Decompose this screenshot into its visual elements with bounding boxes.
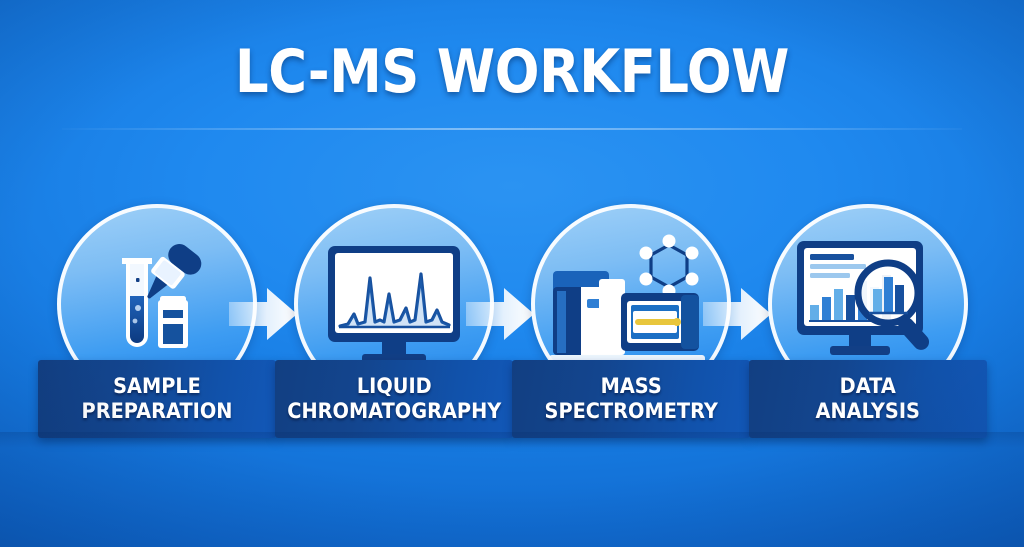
arrow-right-icon-3: [703, 288, 771, 340]
title-area: LC-MS WORKFLOW: [0, 40, 1024, 104]
page-title: LC-MS WORKFLOW: [61, 40, 962, 104]
step-label-box-3[interactable]: MASS SPECTROMETRY: [512, 360, 750, 438]
arrow-right-icon-1: [229, 288, 297, 340]
step-label-1: SAMPLE PREPARATION: [82, 374, 233, 424]
arrow-right-icon-2: [466, 288, 534, 340]
title-divider: [62, 128, 962, 130]
step-label-4: DATA ANALYSIS: [816, 374, 920, 424]
step-label-box-2[interactable]: LIQUID CHROMATOGRAPHY: [275, 360, 513, 438]
step-label-box-4[interactable]: DATA ANALYSIS: [749, 360, 987, 438]
step-label-box-1[interactable]: SAMPLE PREPARATION: [38, 360, 276, 438]
step-label-3: MASS SPECTROMETRY: [544, 374, 717, 424]
step-label-2: LIQUID CHROMATOGRAPHY: [287, 374, 501, 424]
lcms-workflow-infographic: LC-MS WORKFLOW: [0, 0, 1024, 547]
